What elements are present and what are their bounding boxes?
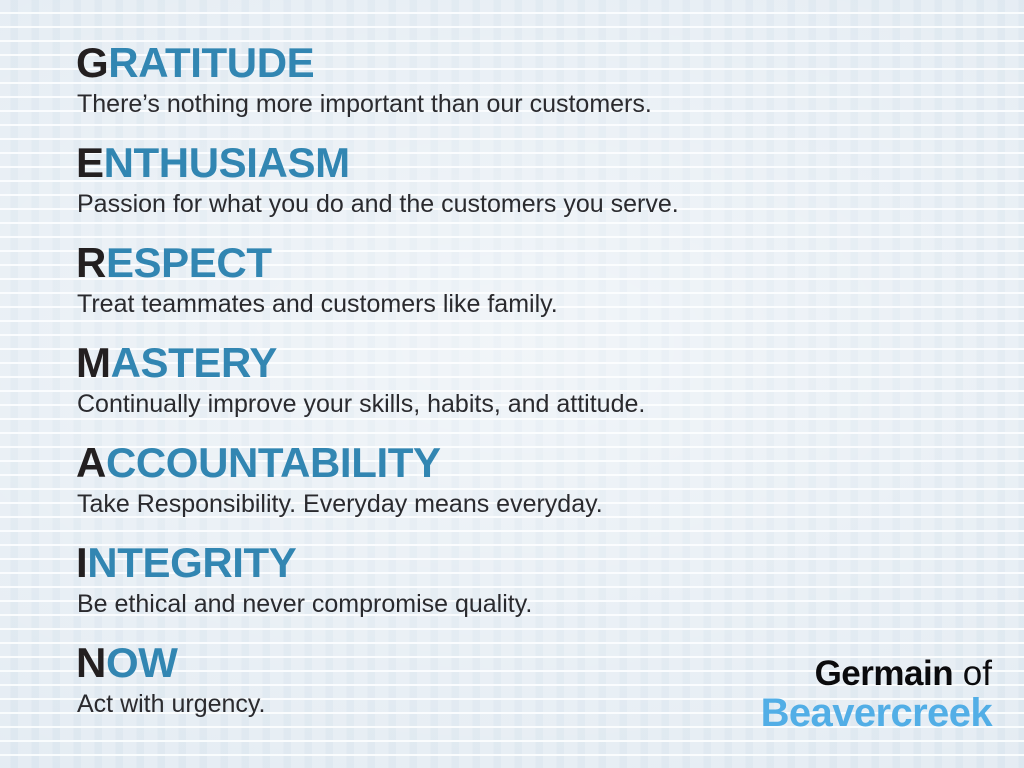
value-initial-letter: R bbox=[76, 239, 106, 286]
value-block-integrity: INTEGRITY Be ethical and never compromis… bbox=[76, 542, 532, 617]
value-subtitle-mastery: Continually improve your skills, habits,… bbox=[77, 392, 645, 417]
value-remaining-letters: RATITUDE bbox=[108, 39, 314, 86]
value-initial-letter: M bbox=[76, 339, 111, 386]
logo-location-name: Beavercreek bbox=[761, 693, 992, 734]
value-remaining-letters: NTEGRITY bbox=[87, 539, 296, 586]
value-subtitle-now: Act with urgency. bbox=[77, 692, 266, 717]
value-block-gratitude: GRATITUDE There’s nothing more important… bbox=[76, 42, 652, 117]
value-initial-letter: A bbox=[76, 439, 106, 486]
value-remaining-letters: ESPECT bbox=[106, 239, 272, 286]
value-initial-letter: N bbox=[76, 639, 106, 686]
value-remaining-letters: NTHUSIASM bbox=[104, 139, 350, 186]
value-remaining-letters: OW bbox=[106, 639, 178, 686]
value-heading-mastery: MASTERY bbox=[76, 342, 645, 384]
value-heading-gratitude: GRATITUDE bbox=[76, 42, 652, 84]
value-initial-letter: I bbox=[76, 539, 87, 586]
value-remaining-letters: ASTERY bbox=[111, 339, 277, 386]
logo-line-primary: Germain of bbox=[761, 656, 992, 693]
value-remaining-letters: CCOUNTABILITY bbox=[106, 439, 441, 486]
value-subtitle-enthusiasm: Passion for what you do and the customer… bbox=[77, 192, 679, 217]
logo-connector-word: of bbox=[953, 654, 992, 693]
value-subtitle-integrity: Be ethical and never compromise quality. bbox=[77, 592, 532, 617]
value-subtitle-accountability: Take Responsibility. Everyday means ever… bbox=[77, 492, 603, 517]
value-heading-respect: RESPECT bbox=[76, 242, 558, 284]
value-block-respect: RESPECT Treat teammates and customers li… bbox=[76, 242, 558, 317]
value-block-enthusiasm: ENTHUSIASM Passion for what you do and t… bbox=[76, 142, 679, 217]
logo-brand-name: Germain bbox=[815, 654, 954, 693]
value-subtitle-gratitude: There’s nothing more important than our … bbox=[77, 92, 652, 117]
value-heading-enthusiasm: ENTHUSIASM bbox=[76, 142, 679, 184]
value-block-mastery: MASTERY Continually improve your skills,… bbox=[76, 342, 645, 417]
value-block-accountability: ACCOUNTABILITY Take Responsibility. Ever… bbox=[76, 442, 603, 517]
value-heading-now: NOW bbox=[76, 642, 266, 684]
value-initial-letter: E bbox=[76, 139, 104, 186]
value-heading-accountability: ACCOUNTABILITY bbox=[76, 442, 603, 484]
value-block-now: NOW Act with urgency. bbox=[76, 642, 266, 717]
dealership-logo: Germain of Beavercreek bbox=[761, 656, 992, 734]
value-initial-letter: G bbox=[76, 39, 108, 86]
value-subtitle-respect: Treat teammates and customers like famil… bbox=[77, 292, 558, 317]
values-poster: GRATITUDE There’s nothing more important… bbox=[0, 0, 1024, 768]
value-heading-integrity: INTEGRITY bbox=[76, 542, 532, 584]
